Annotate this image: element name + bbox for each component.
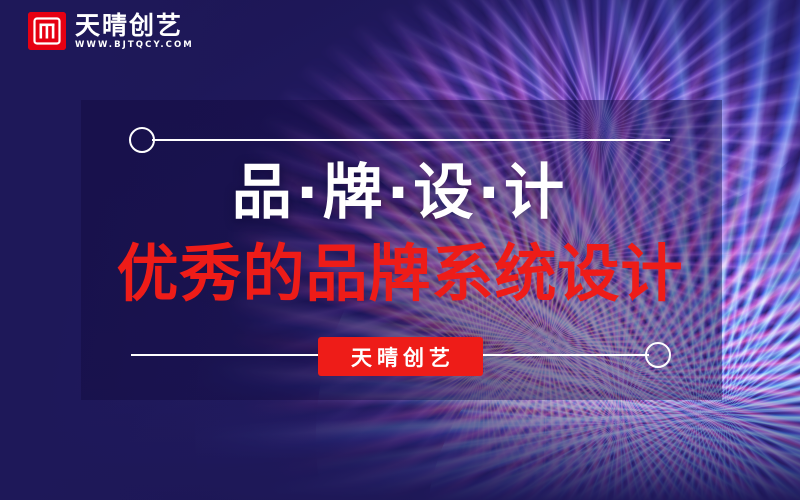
logo-name-cn: 天晴创艺 — [75, 13, 194, 38]
banner-canvas: 天晴创艺 WWW.BJTQCY.COM 品·牌·设·计 优秀的品牌系统设计 天晴… — [0, 0, 800, 500]
page-subtitle: 优秀的品牌系统设计 — [0, 243, 800, 305]
top-left-circle-marker — [129, 127, 155, 153]
logo-text-block: 天晴创艺 WWW.BJTQCY.COM — [75, 13, 194, 50]
brand-logo[interactable]: 天晴创艺 WWW.BJTQCY.COM — [28, 12, 194, 50]
brand-badge: 天晴创艺 — [318, 337, 483, 376]
tq-monogram-icon — [28, 12, 66, 50]
top-divider-line — [152, 139, 670, 141]
page-title: 品·牌·设·计 — [0, 163, 800, 223]
logo-website-url: WWW.BJTQCY.COM — [75, 41, 194, 50]
bottom-right-circle-marker — [645, 342, 671, 368]
